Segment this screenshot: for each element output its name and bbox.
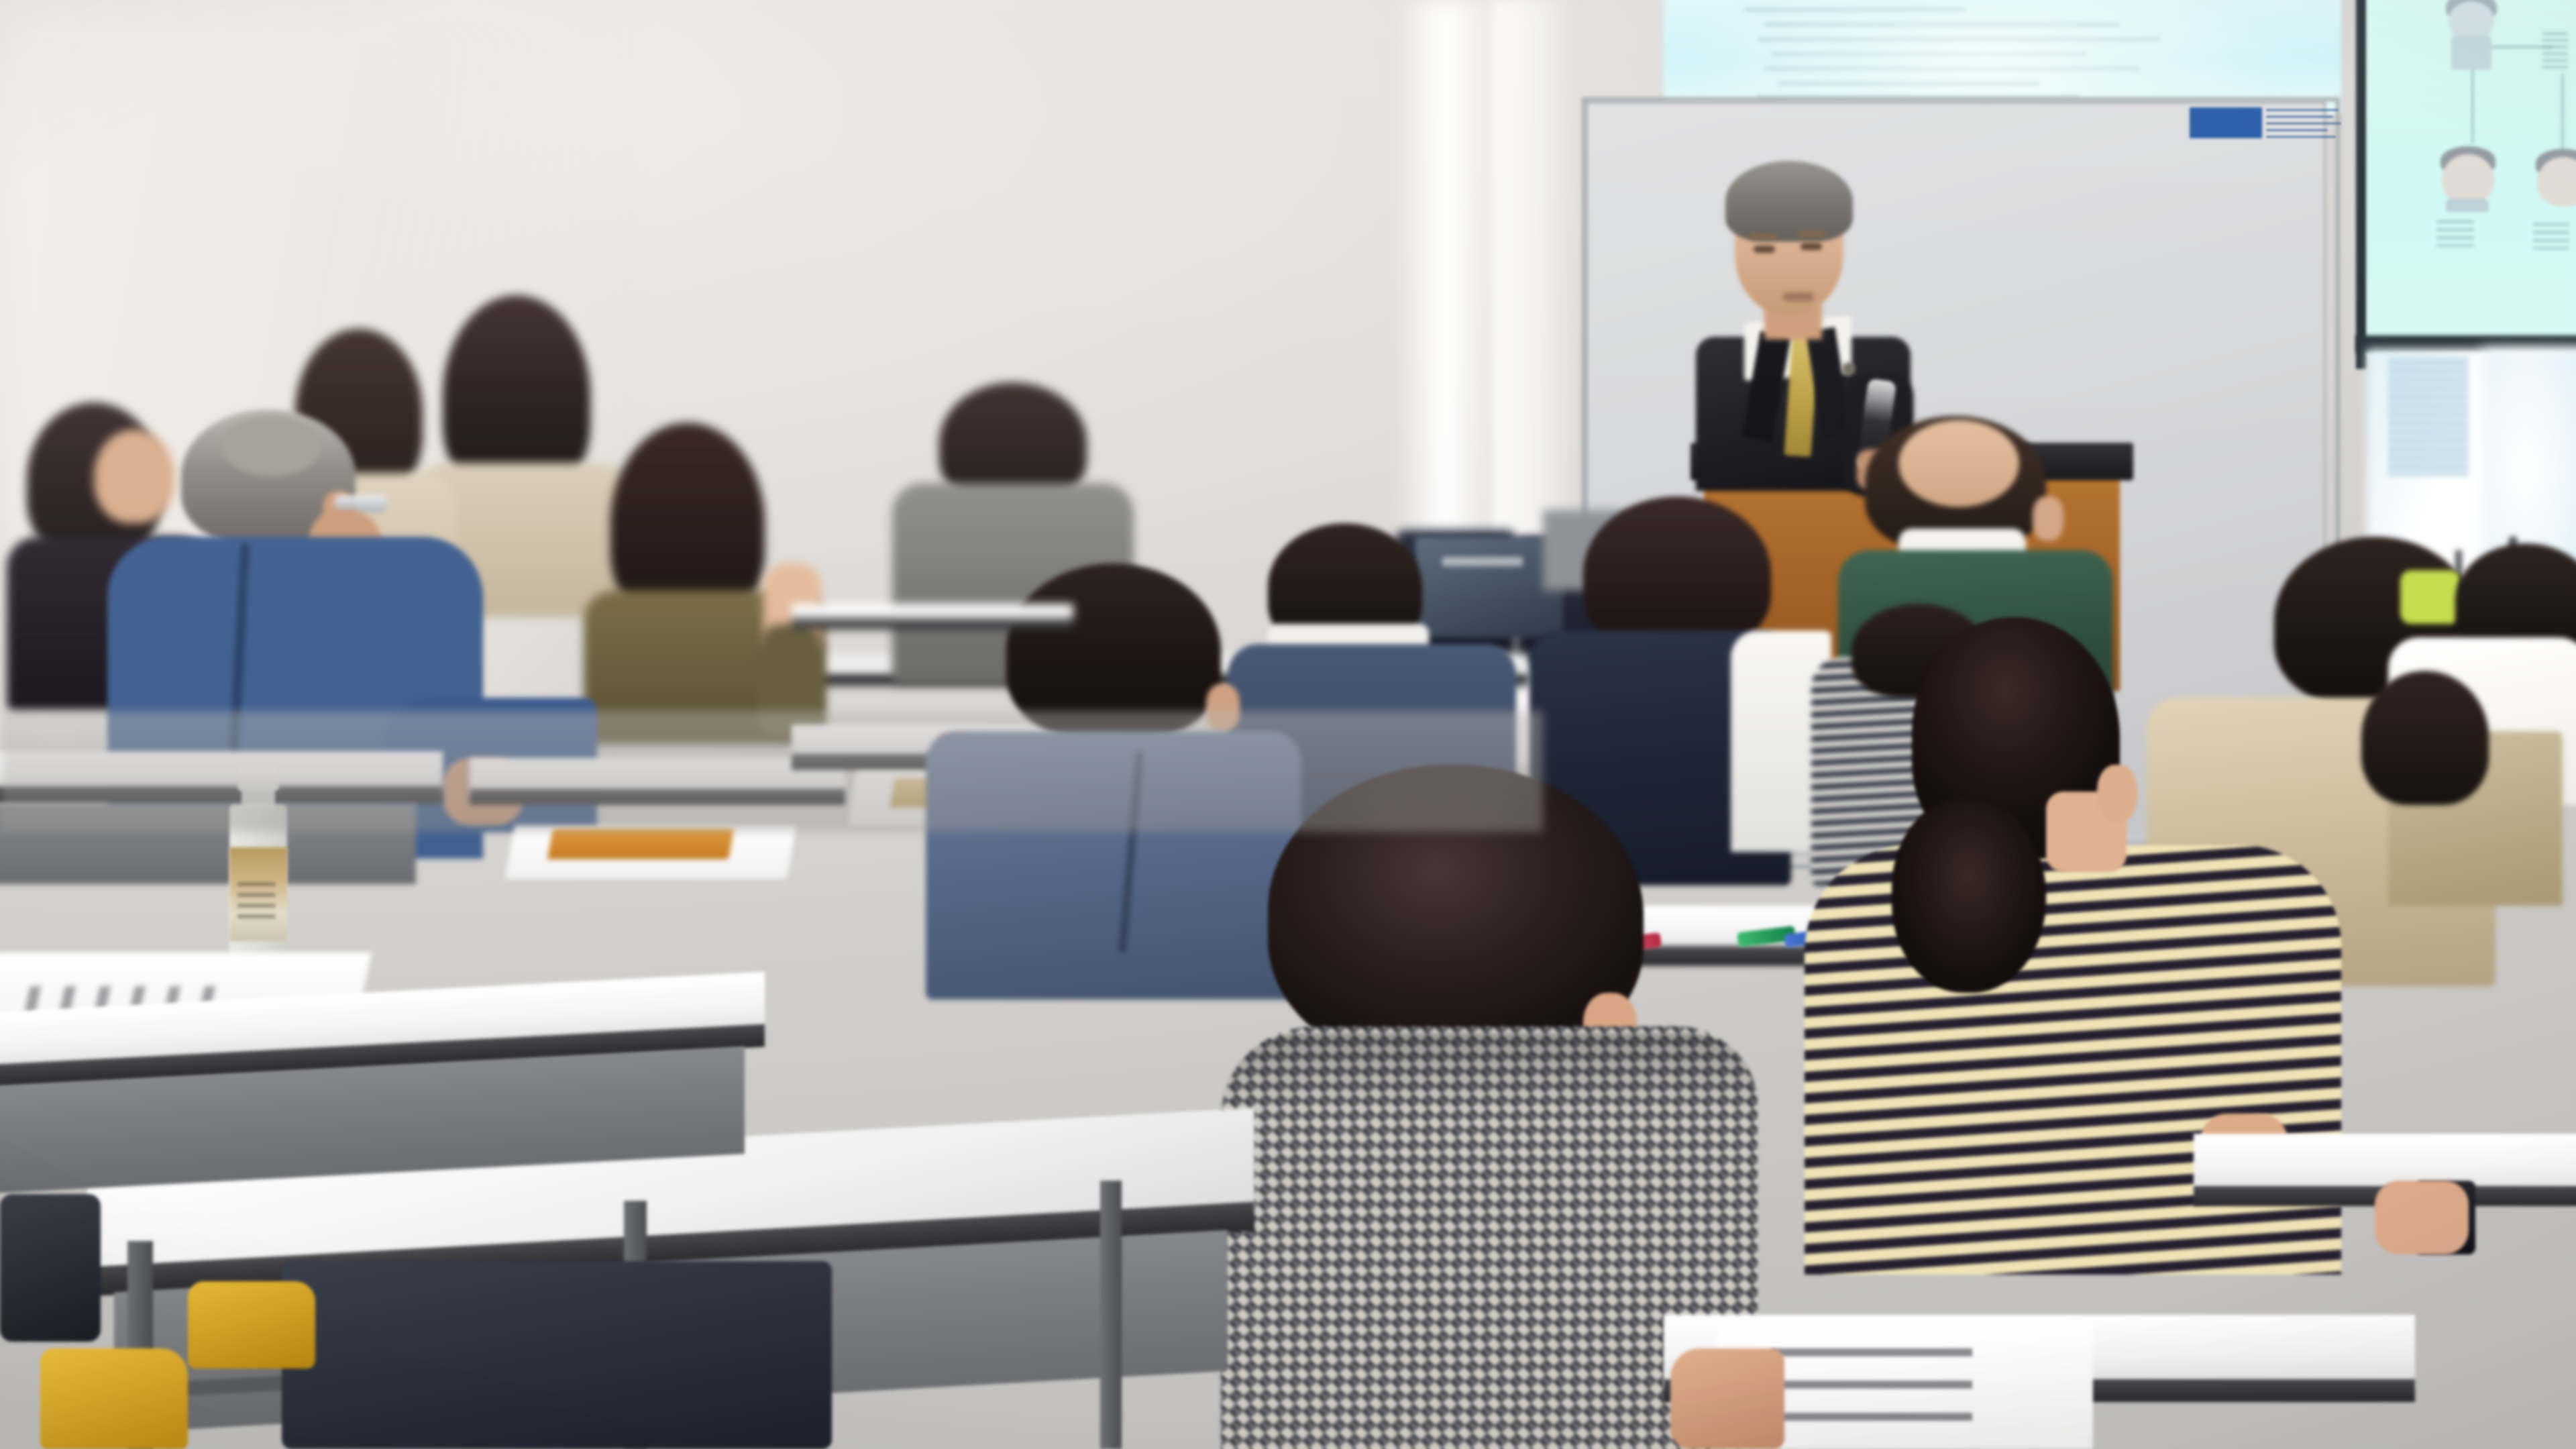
orange-folder [547, 828, 734, 859]
hair [2361, 671, 2489, 805]
speaker-lapel-badge [1842, 362, 1856, 376]
window-blinds [2388, 356, 2469, 476]
ponytail [1892, 798, 2046, 993]
floor [0, 711, 1543, 832]
toon-figure-right [2530, 149, 2576, 263]
speaker-eyebrow-right [1798, 231, 1826, 237]
bald-crown [1898, 420, 2019, 507]
yellow-bag [40, 1348, 188, 1449]
person-right-dark-head [2361, 671, 2495, 845]
yellow-bag-2 [188, 1281, 315, 1368]
photo-scene: Lecture hall seminar with speaker at pod… [0, 0, 2576, 1449]
projection-screen-border [2356, 0, 2367, 369]
handout-front-marks [1771, 1348, 1972, 1422]
ear [2033, 496, 2063, 541]
projection-screen [2367, 0, 2576, 356]
hand-on-paper [1670, 1348, 1784, 1449]
speaker-mouth [1783, 292, 1814, 301]
shoulder-shadow [1221, 1033, 1758, 1114]
hand-right-desk [2375, 1181, 2469, 1254]
yellow-green-object [2400, 570, 2461, 624]
bottle-label-text [237, 882, 275, 922]
chair-front-left [282, 1261, 832, 1449]
toon-caption-left [2436, 220, 2474, 247]
toon-caption-right [2533, 223, 2569, 250]
ear [2097, 765, 2137, 822]
hair [1583, 496, 1771, 651]
desk-leg-3 [1100, 1181, 1122, 1449]
desk-far-back [792, 604, 1073, 684]
speaker-eye-right [1801, 243, 1822, 250]
whiteboard-blue-placard [2190, 107, 2262, 138]
whiteboard-placard-text [2266, 106, 2343, 141]
desk-mid-left [0, 993, 765, 1207]
toon-figure-top [2434, 0, 2514, 87]
speaker-hair [1725, 161, 1853, 241]
toon-figure-left [2431, 146, 2512, 260]
speaker-eyebrow-left [1750, 233, 1778, 239]
bald-spot [221, 416, 322, 476]
desk-edge [792, 619, 1073, 629]
toon-label-right [2542, 32, 2568, 68]
speaker-eye-left [1754, 246, 1775, 253]
dark-bag [0, 1194, 101, 1342]
